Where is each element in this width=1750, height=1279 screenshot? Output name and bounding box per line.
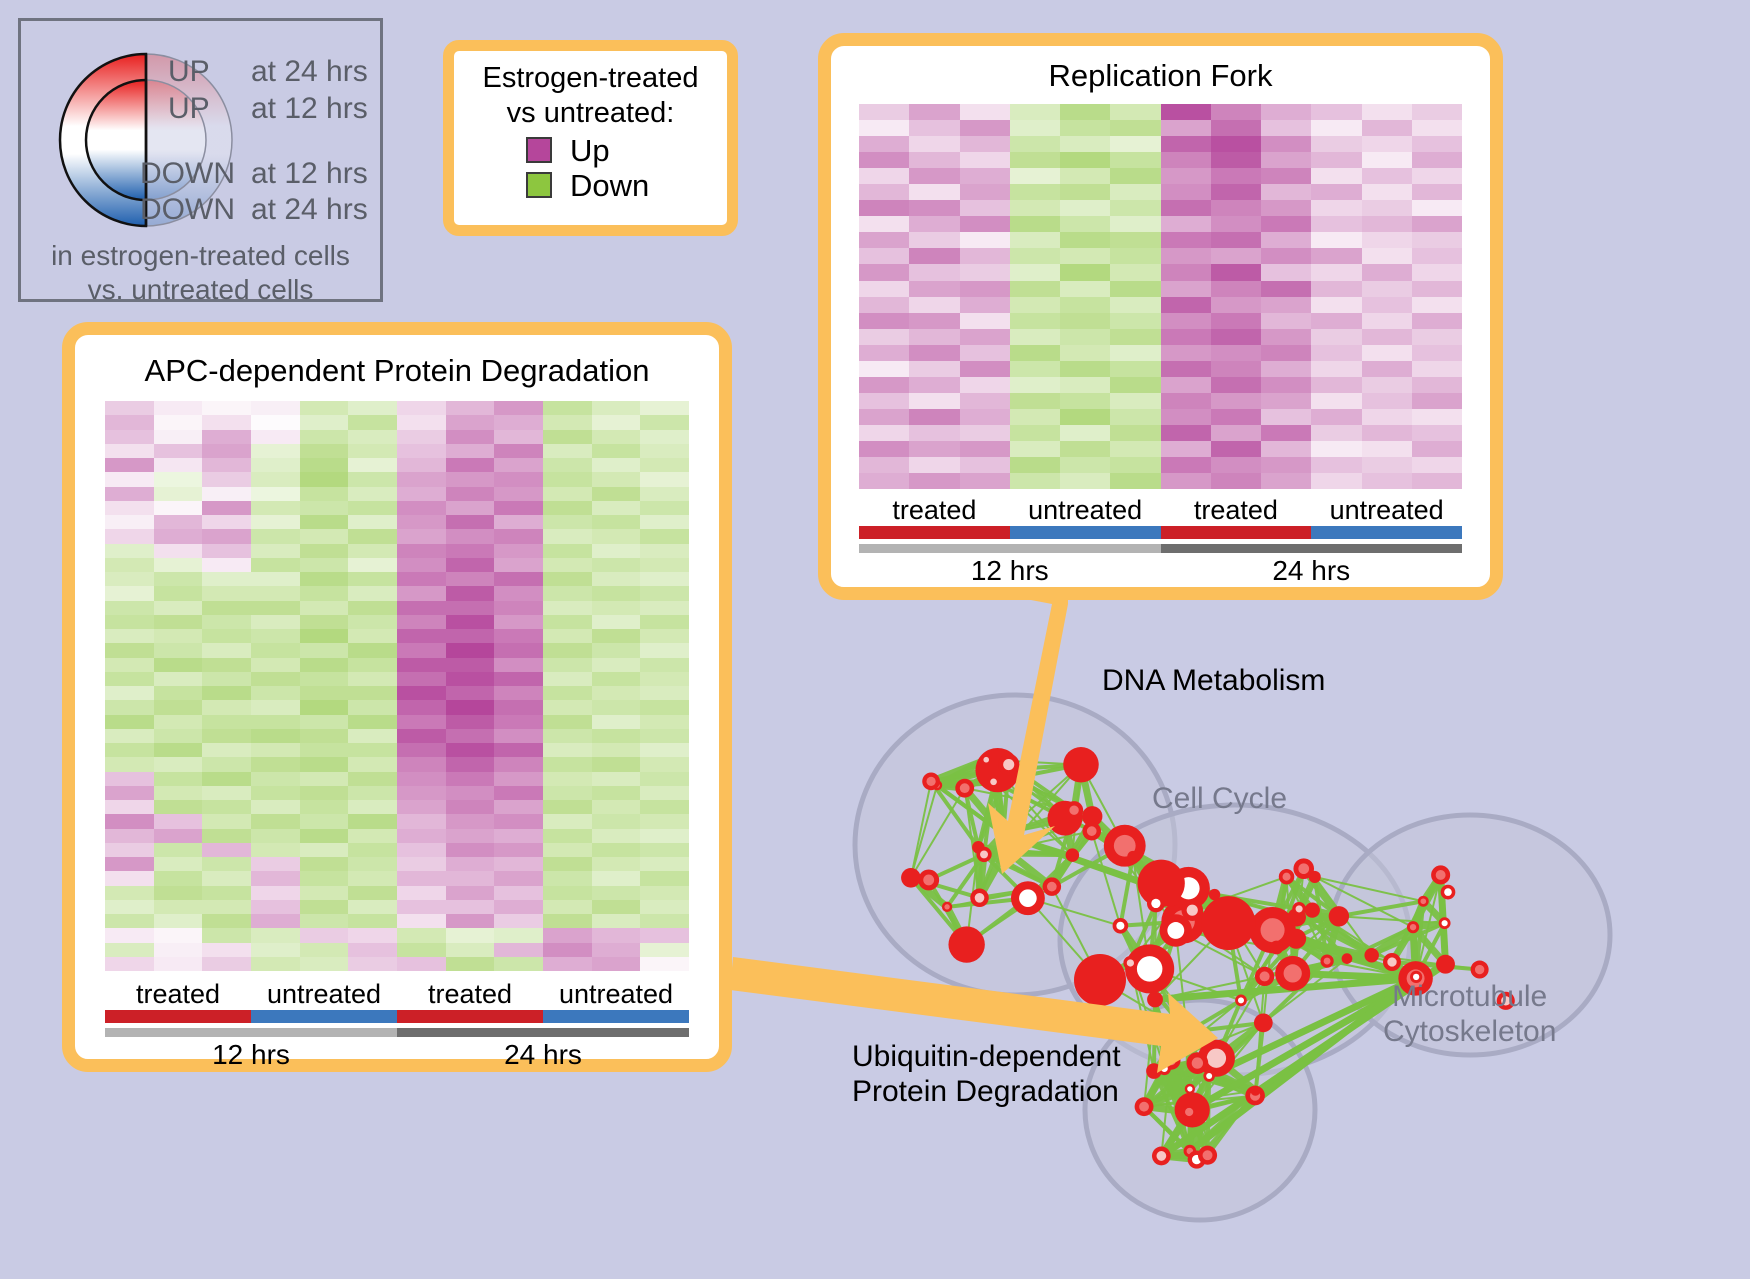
heatmap-cell xyxy=(1362,297,1412,313)
heatmap-cell xyxy=(859,297,909,313)
heatmap-cell xyxy=(1311,361,1361,377)
heatmap-cell xyxy=(1110,457,1160,473)
heatmap-cell xyxy=(300,458,349,472)
heatmap-cell xyxy=(909,216,959,232)
network-node xyxy=(1471,961,1489,979)
network-node xyxy=(970,889,989,908)
heatmap-cell xyxy=(1010,345,1060,361)
heatmap-cell xyxy=(446,786,495,800)
heatmap-cell xyxy=(105,700,154,714)
heatmap-cell xyxy=(446,686,495,700)
heatmap-cell xyxy=(543,529,592,543)
heatmap-cell xyxy=(348,458,397,472)
heatmap-cell xyxy=(592,772,641,786)
heatmap-cell xyxy=(348,700,397,714)
heatmap-cell xyxy=(105,501,154,515)
heatmap-cell xyxy=(1362,441,1412,457)
heatmap-cell xyxy=(1261,216,1311,232)
network-node xyxy=(1329,906,1349,926)
heatmap-cell xyxy=(640,529,689,543)
heatmap-cell xyxy=(909,329,959,345)
heatmap-cell xyxy=(105,786,154,800)
legend-title: Estrogen-treated vs untreated: xyxy=(454,61,727,131)
heatmap-cell xyxy=(1261,248,1311,264)
heatmap-cell xyxy=(1261,104,1311,120)
heatmap-cell xyxy=(909,264,959,280)
heatmap-cell xyxy=(105,928,154,942)
heatmap-cell xyxy=(909,393,959,409)
heatmap-cell xyxy=(446,501,495,515)
heatmap-cell xyxy=(494,515,543,529)
network-node xyxy=(1436,955,1455,974)
heatmap-cell xyxy=(397,658,446,672)
heatmap-cell xyxy=(300,487,349,501)
heatmap-cell xyxy=(592,586,641,600)
heatmap-cell xyxy=(397,829,446,843)
heatmap-cell xyxy=(105,487,154,501)
heatmap-cell xyxy=(592,715,641,729)
heatmap-cell xyxy=(640,415,689,429)
network-node xyxy=(1279,869,1294,884)
heatmap-cell xyxy=(202,572,251,586)
heatmap-cell xyxy=(592,415,641,429)
heatmap-cell xyxy=(1161,120,1211,136)
heatmap-cell xyxy=(909,168,959,184)
network-node xyxy=(998,754,1019,775)
heatmap-cell xyxy=(1010,232,1060,248)
heatmap-cell xyxy=(1211,152,1261,168)
heatmap-cell xyxy=(1110,216,1160,232)
heatmap-cell xyxy=(105,757,154,771)
heatmap-cell xyxy=(446,615,495,629)
heatmap-cell xyxy=(300,529,349,543)
condition-bar-segment xyxy=(859,526,1010,539)
heatmap-cell xyxy=(1362,184,1412,200)
heatmap-cell xyxy=(494,829,543,843)
heatmap-row xyxy=(859,361,1462,377)
heatmap-cell xyxy=(543,700,592,714)
heatmap-cell xyxy=(1261,457,1311,473)
heatmap-cell xyxy=(348,558,397,572)
heatmap-cell xyxy=(397,957,446,971)
heatmap-cell xyxy=(300,629,349,643)
heatmap-cell xyxy=(202,472,251,486)
key-time-down-12: at 12 hrs xyxy=(251,157,368,191)
heatmap-cell xyxy=(1060,104,1110,120)
heatmap-cell xyxy=(859,281,909,297)
heatmap-cell xyxy=(640,586,689,600)
heatmap-row xyxy=(859,377,1462,393)
heatmap-cell xyxy=(446,586,495,600)
heatmap-cell xyxy=(1211,297,1261,313)
heatmap-cell xyxy=(397,615,446,629)
heatmap-cell xyxy=(859,216,909,232)
heatmap-cell xyxy=(105,401,154,415)
heatmap-cell xyxy=(543,501,592,515)
condition-bar-segment xyxy=(397,1010,543,1023)
heatmap-cell xyxy=(859,232,909,248)
heatmap-cell xyxy=(1161,473,1211,489)
condition-labels-apc: treateduntreatedtreateduntreated xyxy=(105,979,689,1010)
heatmap-cell xyxy=(105,672,154,686)
condition-label: treated xyxy=(397,979,543,1010)
heatmap-cell xyxy=(1211,200,1261,216)
network-node xyxy=(1235,995,1247,1007)
heatmap-cell xyxy=(859,264,909,280)
heatmap-row xyxy=(105,444,689,458)
heatmap-cell xyxy=(592,487,641,501)
heatmap-cell xyxy=(251,743,300,757)
heatmap-cell xyxy=(640,700,689,714)
heatmap-cell xyxy=(960,409,1010,425)
heatmap-cell xyxy=(494,544,543,558)
heatmap-cell xyxy=(592,430,641,444)
heatmap-cell xyxy=(1060,457,1110,473)
heatmap-cell xyxy=(397,629,446,643)
heatmap-row xyxy=(105,871,689,885)
heatmap-cell xyxy=(1010,457,1060,473)
network-node xyxy=(1293,858,1314,879)
heatmap-cell xyxy=(1161,329,1211,345)
heatmap-cell xyxy=(397,886,446,900)
network-node xyxy=(1209,889,1220,900)
heatmap-apc-degradation xyxy=(105,401,689,971)
heatmap-cell xyxy=(154,871,203,885)
heatmap-cell xyxy=(397,943,446,957)
ubiquitin-line-2: Protein Degradation xyxy=(852,1075,1121,1110)
heatmap-row xyxy=(859,473,1462,489)
heatmap-cell xyxy=(397,857,446,871)
heatmap-cell xyxy=(1211,248,1261,264)
heatmap-cell xyxy=(105,957,154,971)
heatmap-cell xyxy=(251,672,300,686)
heatmap-cell xyxy=(859,104,909,120)
heatmap-cell xyxy=(202,643,251,657)
heatmap-cell xyxy=(543,900,592,914)
heatmap-cell xyxy=(1412,168,1462,184)
heatmap-row xyxy=(105,928,689,942)
heatmap-cell xyxy=(640,814,689,828)
heatmap-cell xyxy=(592,800,641,814)
heatmap-row xyxy=(105,472,689,486)
heatmap-cell xyxy=(348,572,397,586)
heatmap-cell xyxy=(960,184,1010,200)
heatmap-cell xyxy=(909,361,959,377)
heatmap-cell xyxy=(397,572,446,586)
heatmap-cell xyxy=(1060,473,1110,489)
heatmap-cell xyxy=(909,345,959,361)
heatmap-cell xyxy=(640,729,689,743)
heatmap-cell xyxy=(960,425,1010,441)
heatmap-cell xyxy=(446,886,495,900)
heatmap-cell xyxy=(640,472,689,486)
heatmap-cell xyxy=(1412,152,1462,168)
heatmap-cell xyxy=(1060,393,1110,409)
heatmap-cell xyxy=(348,643,397,657)
heatmap-cell xyxy=(105,814,154,828)
heatmap-cell xyxy=(640,772,689,786)
heatmap-cell xyxy=(1211,329,1261,345)
heatmap-cell xyxy=(1060,281,1110,297)
heatmap-row xyxy=(105,715,689,729)
heatmap-cell xyxy=(1110,232,1160,248)
network-node xyxy=(997,828,1009,840)
heatmap-cell xyxy=(1362,377,1412,393)
legend-title-line-2: vs untreated: xyxy=(454,96,727,131)
key-word-up-12: UP xyxy=(168,92,210,126)
heatmap-cell xyxy=(1261,425,1311,441)
heatmap-cell xyxy=(251,871,300,885)
heatmap-cell xyxy=(1010,120,1060,136)
heatmap-cell xyxy=(1362,168,1412,184)
heatmap-cell xyxy=(1110,409,1160,425)
network-node xyxy=(1305,902,1320,917)
heatmap-cell xyxy=(960,248,1010,264)
heatmap-cell xyxy=(154,629,203,643)
heatmap-cell xyxy=(348,943,397,957)
heatmap-cell xyxy=(640,857,689,871)
heatmap-cell xyxy=(1010,281,1060,297)
heatmap-cell xyxy=(494,458,543,472)
protein-interaction-network xyxy=(780,610,1750,1279)
time-label: 12 hrs xyxy=(859,555,1161,587)
heatmap-cell xyxy=(105,729,154,743)
heatmap-cell xyxy=(543,829,592,843)
heatmap-cell xyxy=(202,700,251,714)
time-colorbar-replication xyxy=(859,544,1462,553)
heatmap-cell xyxy=(251,772,300,786)
heatmap-cell xyxy=(1362,457,1412,473)
heatmap-cell xyxy=(154,914,203,928)
heatmap-cell xyxy=(1412,297,1462,313)
caption-line-2: vs. untreated cells xyxy=(21,273,380,307)
heatmap-row xyxy=(859,120,1462,136)
heatmap-cell xyxy=(251,814,300,828)
heatmap-cell xyxy=(397,743,446,757)
heatmap-cell xyxy=(1261,329,1311,345)
heatmap-cell xyxy=(543,686,592,700)
network-node xyxy=(1342,953,1353,964)
heatmap-cell xyxy=(1110,329,1160,345)
heatmap-cell xyxy=(960,232,1010,248)
heatmap-cell xyxy=(1412,409,1462,425)
heatmap-cell xyxy=(300,700,349,714)
heatmap-cell xyxy=(909,200,959,216)
heatmap-cell xyxy=(397,772,446,786)
heatmap-cell xyxy=(543,800,592,814)
heatmap-row xyxy=(105,957,689,971)
network-node xyxy=(1066,848,1079,861)
heatmap-cell xyxy=(1412,264,1462,280)
heatmap-cell xyxy=(1261,409,1311,425)
network-node xyxy=(1135,1097,1154,1116)
heatmap-cell xyxy=(494,686,543,700)
heatmap-cell xyxy=(154,515,203,529)
heatmap-cell xyxy=(1362,136,1412,152)
heatmap-cell xyxy=(494,757,543,771)
heatmap-cell xyxy=(1010,377,1060,393)
heatmap-cell xyxy=(543,786,592,800)
heatmap-cell xyxy=(1161,441,1211,457)
network-node xyxy=(955,779,974,798)
heatmap-cell xyxy=(960,104,1010,120)
heatmap-cell xyxy=(1110,313,1160,329)
heatmap-cell xyxy=(105,529,154,543)
heatmap-cell xyxy=(1110,248,1160,264)
heatmap-cell xyxy=(1211,184,1261,200)
heatmap-cell xyxy=(446,401,495,415)
heatmap-cell xyxy=(1060,313,1110,329)
heatmap-cell xyxy=(1261,377,1311,393)
heatmap-cell xyxy=(592,928,641,942)
heatmap-row xyxy=(859,297,1462,313)
heatmap-cell xyxy=(300,772,349,786)
heatmap-cell xyxy=(251,629,300,643)
condition-bar-segment xyxy=(251,1010,397,1023)
heatmap-cell xyxy=(154,757,203,771)
heatmap-cell xyxy=(300,658,349,672)
heatmap-cell xyxy=(640,871,689,885)
heatmap-cell xyxy=(543,444,592,458)
heatmap-cell xyxy=(348,957,397,971)
heatmap-row xyxy=(859,313,1462,329)
heatmap-row xyxy=(105,900,689,914)
heatmap-cell xyxy=(446,515,495,529)
heatmap-cell xyxy=(348,871,397,885)
network-node xyxy=(1104,825,1146,867)
heatmap-cell xyxy=(543,715,592,729)
heatmap-cell xyxy=(1010,152,1060,168)
heatmap-cell xyxy=(1161,281,1211,297)
heatmap-cell xyxy=(909,457,959,473)
heatmap-cell xyxy=(348,601,397,615)
heatmap-cell xyxy=(348,757,397,771)
heatmap-row xyxy=(859,184,1462,200)
heatmap-cell xyxy=(640,601,689,615)
heatmap-cell xyxy=(1161,104,1211,120)
heatmap-cell xyxy=(543,601,592,615)
heatmap-cell xyxy=(300,843,349,857)
heatmap-cell xyxy=(592,401,641,415)
heatmap-cell xyxy=(494,586,543,600)
heatmap-row xyxy=(105,458,689,472)
network-node xyxy=(1418,896,1429,907)
heatmap-cell xyxy=(1261,345,1311,361)
heatmap-cell xyxy=(154,743,203,757)
heatmap-row xyxy=(105,572,689,586)
heatmap-cell xyxy=(1010,104,1060,120)
heatmap-cell xyxy=(397,601,446,615)
heatmap-cell xyxy=(1311,377,1361,393)
time-colorbar-apc xyxy=(105,1028,689,1037)
heatmap-cell xyxy=(397,558,446,572)
heatmap-cell xyxy=(251,401,300,415)
heatmap-cell xyxy=(859,393,909,409)
heatmap-cell xyxy=(300,814,349,828)
heatmap-cell xyxy=(202,544,251,558)
heatmap-row xyxy=(105,914,689,928)
heatmap-cell xyxy=(251,444,300,458)
legend-label-up: Up xyxy=(570,135,610,166)
heatmap-cell xyxy=(348,843,397,857)
heatmap-cell xyxy=(1311,200,1361,216)
heatmap-cell xyxy=(1362,232,1412,248)
heatmap-cell xyxy=(251,586,300,600)
heatmap-cell xyxy=(1412,248,1462,264)
heatmap-cell xyxy=(1161,232,1211,248)
heatmap-cell xyxy=(251,943,300,957)
heatmap-cell xyxy=(1211,361,1261,377)
heatmap-cell xyxy=(202,487,251,501)
heatmap-row xyxy=(859,264,1462,280)
heatmap-cell xyxy=(202,957,251,971)
key-time-up-24: at 24 hrs xyxy=(251,55,368,89)
heatmap-cell xyxy=(1311,425,1361,441)
heatmap-cell xyxy=(1412,473,1462,489)
heatmap-cell xyxy=(1311,441,1361,457)
heatmap-cell xyxy=(300,501,349,515)
heatmap-cell xyxy=(1110,393,1160,409)
heatmap-cell xyxy=(1362,200,1412,216)
heatmap-cell xyxy=(640,914,689,928)
heatmap-cell xyxy=(859,200,909,216)
heatmap-cell xyxy=(1311,104,1361,120)
heatmap-cell xyxy=(909,120,959,136)
heatmap-cell xyxy=(1060,297,1110,313)
heatmap-cell xyxy=(251,472,300,486)
heatmap-cell xyxy=(1261,184,1311,200)
heatmap-cell xyxy=(1161,345,1211,361)
network-node xyxy=(1383,953,1401,971)
heatmap-cell xyxy=(543,658,592,672)
heatmap-cell xyxy=(397,472,446,486)
heatmap-cell xyxy=(154,658,203,672)
heatmap-cell xyxy=(859,457,909,473)
heatmap-cell xyxy=(592,501,641,515)
heatmap-cell xyxy=(1060,200,1110,216)
heatmap-cell xyxy=(1261,168,1311,184)
heatmap-cell xyxy=(592,829,641,843)
network-node xyxy=(1043,877,1062,896)
heatmap-cell xyxy=(1211,457,1261,473)
heatmap-cell xyxy=(640,957,689,971)
heatmap-row xyxy=(105,814,689,828)
network-node xyxy=(1082,822,1101,841)
heatmap-cell xyxy=(859,120,909,136)
network-node xyxy=(1250,1086,1260,1096)
heatmap-cell xyxy=(592,615,641,629)
heatmap-cell xyxy=(1010,329,1060,345)
heatmap-cell xyxy=(1311,457,1361,473)
heatmap-cell xyxy=(1211,136,1261,152)
heatmap-cell xyxy=(446,957,495,971)
heatmap-cell xyxy=(494,558,543,572)
heatmap-cell xyxy=(154,401,203,415)
heatmap-cell xyxy=(397,900,446,914)
heatmap-cell xyxy=(640,743,689,757)
network-node xyxy=(1201,896,1255,950)
heatmap-cell xyxy=(909,409,959,425)
heatmap-row xyxy=(859,329,1462,345)
network-node xyxy=(948,926,984,962)
heatmap-cell xyxy=(348,501,397,515)
heatmap-cell xyxy=(202,829,251,843)
heatmap-cell xyxy=(494,800,543,814)
heatmap-cell xyxy=(1311,248,1361,264)
heatmap-cell xyxy=(202,786,251,800)
time-labels-apc: 12 hrs24 hrs xyxy=(105,1039,689,1071)
heatmap-cell xyxy=(348,401,397,415)
